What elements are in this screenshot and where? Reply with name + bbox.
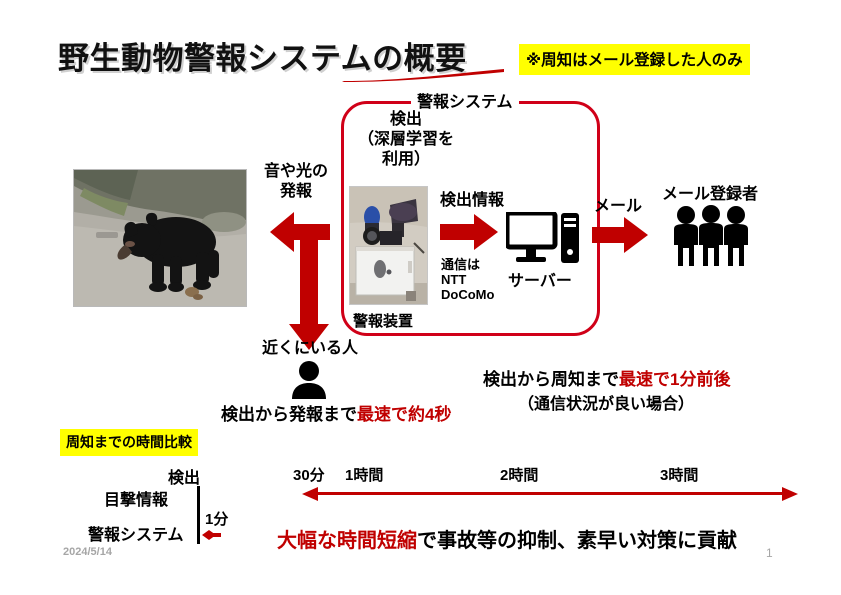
statement-right-subnote: （通信状況が良い場合）	[518, 390, 694, 414]
conclusion-red: 大幅な時間短縮	[277, 530, 417, 552]
statement-detection-to-notify: 検出から周知まで最速で1分前後	[483, 365, 730, 390]
timeline-tick-1: 1時間	[345, 464, 383, 485]
small-arrow-icon	[200, 528, 224, 542]
footer-page-number: 1	[766, 546, 773, 560]
person-icon	[290, 360, 328, 400]
detection-label: 検出 （深層学習を 利用）	[351, 110, 461, 170]
people-group-icon	[668, 205, 754, 267]
comparison-row-system: 警報システム	[88, 521, 184, 545]
double-arrow-icon	[300, 486, 800, 502]
bear-photo	[73, 169, 247, 307]
note-top-banner: ※周知はメール登録した人のみ	[519, 44, 750, 75]
detection-info-label: 検出情報	[440, 186, 504, 210]
title-accent-line	[340, 68, 505, 82]
timeline-tick-0: 30分	[293, 464, 325, 485]
mail-registrants-label: メール登録者	[662, 180, 758, 204]
conclusion-black: で事故等の抑制、素早い対策に貢献	[417, 530, 737, 552]
alert-device-label: 警報装置	[353, 310, 413, 331]
server-label: サーバー	[508, 267, 572, 291]
near-person-label: 近くにいる人	[262, 334, 358, 358]
timeline-tick-3: 3時間	[660, 464, 698, 485]
timeline-tick-2: 2時間	[500, 464, 538, 485]
mail-label: メール	[594, 192, 642, 216]
statement-left-red: 最速で約4秒	[357, 405, 451, 424]
sound-light-label: 音や光の 発報	[250, 162, 342, 201]
server-icon	[506, 212, 580, 264]
alert-device-photo	[349, 186, 428, 305]
arrow-right-icon	[592, 216, 650, 254]
footer-date: 2024/5/14	[63, 546, 112, 558]
alert-system-title: 警報システム	[411, 88, 519, 112]
comparison-title: 周知までの時間比較	[60, 429, 198, 456]
statement-left-black: 検出から発報まで	[221, 405, 357, 424]
conclusion-text: 大幅な時間短縮で事故等の抑制、素早い対策に貢献	[277, 524, 737, 553]
comparison-row-sighting: 目撃情報	[104, 486, 168, 510]
communication-label: 通信は NTT DoCoMo	[441, 258, 494, 303]
arrow-right-icon	[440, 212, 500, 252]
comparison-detect-label: 検出	[168, 464, 200, 488]
comparison-one-minute-label: 1分	[205, 508, 228, 529]
statement-detection-to-alert: 検出から発報まで最速で約4秒	[221, 400, 451, 425]
slide-canvas: 野生動物警報システムの概要 ※周知はメール登録した人のみ	[0, 0, 841, 595]
statement-right-red: 最速で1分前後	[619, 370, 730, 389]
statement-right-black: 検出から周知まで	[483, 370, 619, 389]
